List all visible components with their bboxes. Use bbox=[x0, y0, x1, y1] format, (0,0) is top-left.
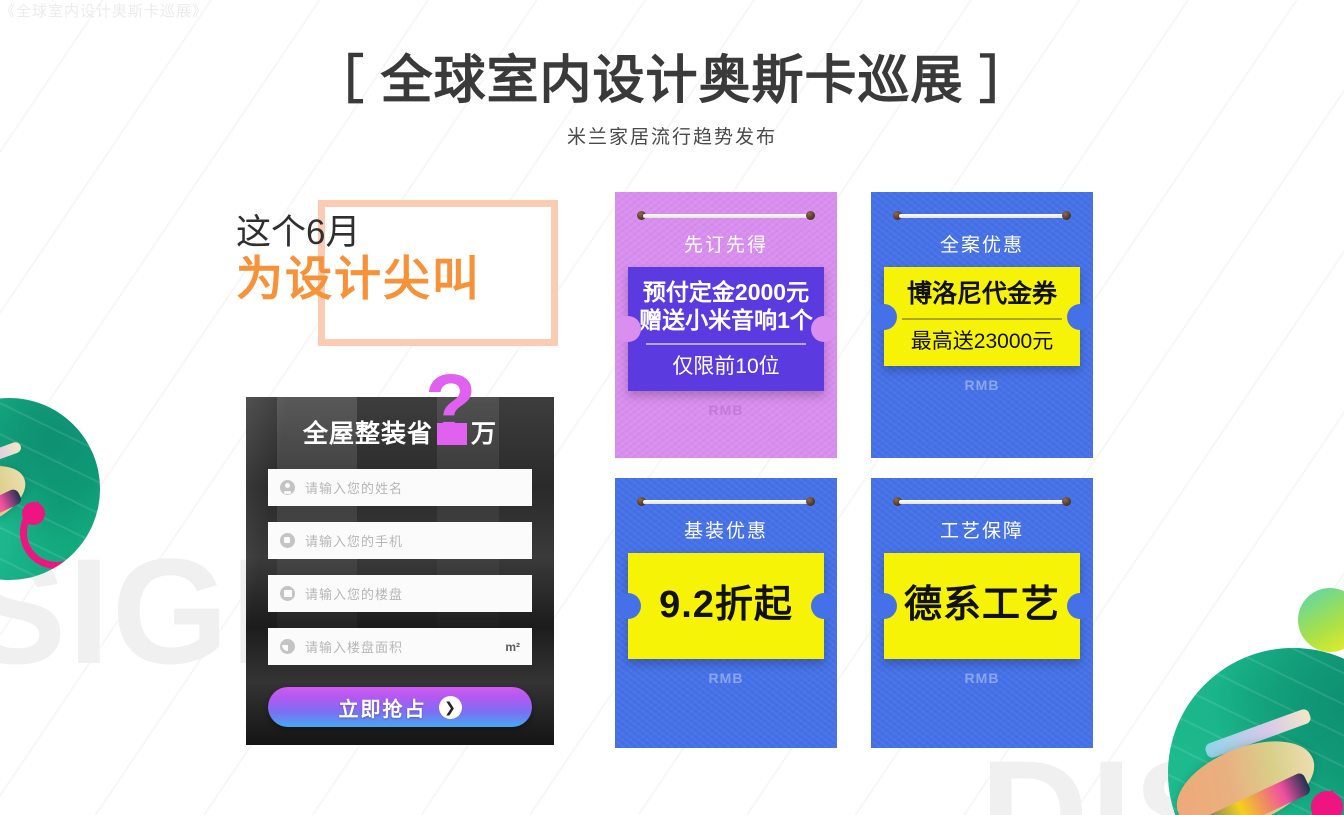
phone-field-placeholder: 请输入您的手机 bbox=[305, 531, 403, 550]
ticket-main-line-1: 预付定金2000元 bbox=[638, 279, 814, 307]
card-footer-label: RMB bbox=[871, 670, 1093, 686]
name-field[interactable]: 请输入您的姓名 bbox=[268, 469, 532, 506]
ticket-divider bbox=[902, 318, 1062, 320]
ticket-notch-right bbox=[811, 593, 837, 619]
coupon-ticket: 9.2折起 bbox=[628, 553, 824, 659]
question-mark-graphic: ? bbox=[425, 362, 476, 446]
ticket-sub: 仅限前10位 bbox=[638, 354, 814, 379]
ticket-notch-left bbox=[615, 316, 641, 342]
card-label: 工艺保障 bbox=[871, 516, 1093, 543]
hanging-rod-icon bbox=[893, 211, 1071, 220]
arrow-right-icon: ❯ bbox=[439, 696, 462, 719]
headline-line-2: 为设计尖叫 bbox=[236, 254, 558, 305]
card-footer-label: RMB bbox=[871, 377, 1093, 393]
promo-card-base-discount[interactable]: 基装优惠 9.2折起 RMB bbox=[615, 478, 837, 748]
community-field-placeholder: 请输入您的楼盘 bbox=[305, 584, 403, 603]
headline-block: 这个6月 为设计尖叫 bbox=[236, 200, 558, 346]
community-field[interactable]: 请输入您的楼盘 bbox=[268, 575, 532, 612]
ticket-main-line-2: 赠送小米音响1个 bbox=[638, 307, 814, 335]
ticket-sub: 最高送23000元 bbox=[894, 329, 1070, 354]
card-label: 全案优惠 bbox=[871, 230, 1093, 257]
ticket-notch-left bbox=[615, 593, 641, 619]
rod-bar bbox=[643, 214, 809, 218]
ticket-main-line-1: 博洛尼代金券 bbox=[894, 279, 1070, 309]
ticket-notch-left bbox=[871, 593, 897, 619]
decorative-photo-circle-right bbox=[1168, 648, 1344, 815]
poster-header: ［ 全球室内设计奥斯卡巡展 ］ 米兰家居流行趋势发布 bbox=[0, 52, 1344, 149]
headline-line-1: 这个6月 bbox=[236, 214, 558, 252]
promo-card-first-order[interactable]: 先订先得 预付定金2000元 赠送小米音响1个 仅限前10位 RMB bbox=[615, 192, 837, 458]
name-field-placeholder: 请输入您的姓名 bbox=[305, 478, 403, 497]
rod-cap-right bbox=[806, 497, 815, 506]
form-heading: 全屋整装省万 bbox=[268, 415, 532, 453]
promo-card-full-package[interactable]: 全案优惠 博洛尼代金券 最高送23000元 RMB bbox=[871, 192, 1093, 458]
rod-bar bbox=[899, 214, 1065, 218]
building-icon bbox=[280, 586, 295, 601]
headline-text: 这个6月 为设计尖叫 bbox=[236, 214, 558, 305]
submit-button[interactable]: 立即抢占 ❯ bbox=[268, 687, 532, 727]
hanging-rod-icon bbox=[637, 497, 815, 506]
ticket-notch-right bbox=[1067, 304, 1093, 330]
card-label: 基装优惠 bbox=[615, 516, 837, 543]
card-footer-label: RMB bbox=[615, 670, 837, 686]
hanging-rod-icon bbox=[893, 497, 1071, 506]
decorative-photo-circle-left bbox=[0, 398, 100, 580]
form-inner: 全屋整装省万 请输入您的姓名 请输入您的手机 请输入您的楼盘 请输入楼盘面积 m… bbox=[246, 397, 554, 727]
area-icon bbox=[280, 639, 295, 654]
poster-canvas: SIGN DISC 《全球室内设计奥斯卡巡展》 ［ 全球室内设计奥斯卡巡展 ］ … bbox=[0, 0, 1344, 815]
watermark-caption: 《全球室内设计奥斯卡巡展》 bbox=[0, 0, 1344, 21]
form-heading-prefix: 全屋整装省 bbox=[303, 420, 433, 448]
rod-cap-right bbox=[806, 211, 815, 220]
rod-cap-right bbox=[1062, 211, 1071, 220]
card-label: 先订先得 bbox=[615, 230, 837, 257]
ticket-notch-right bbox=[811, 316, 837, 342]
area-field-unit: m² bbox=[505, 640, 520, 654]
page-title: ［ 全球室内设计奥斯卡巡展 ］ bbox=[0, 52, 1344, 110]
coupon-ticket: 博洛尼代金券 最高送23000元 bbox=[884, 267, 1080, 366]
phone-icon bbox=[280, 533, 295, 548]
page-subtitle: 米兰家居流行趋势发布 bbox=[0, 122, 1344, 149]
area-field-placeholder: 请输入楼盘面积 bbox=[305, 637, 403, 656]
ticket-notch-right bbox=[1067, 593, 1093, 619]
coupon-ticket: 德系工艺 bbox=[884, 553, 1080, 659]
phone-field[interactable]: 请输入您的手机 bbox=[268, 522, 532, 559]
decorative-gradient-blob bbox=[1298, 588, 1344, 652]
area-field[interactable]: 请输入楼盘面积 m² bbox=[268, 628, 532, 665]
ticket-main-line-1: 德系工艺 bbox=[894, 565, 1070, 647]
ticket-divider bbox=[646, 343, 806, 345]
submit-button-label: 立即抢占 bbox=[339, 693, 427, 722]
rod-bar bbox=[899, 500, 1065, 504]
ticket-main-line-1: 9.2折起 bbox=[638, 565, 814, 647]
coupon-ticket: 预付定金2000元 赠送小米音响1个 仅限前10位 bbox=[628, 267, 824, 391]
promo-card-craft-guarantee[interactable]: 工艺保障 德系工艺 RMB bbox=[871, 478, 1093, 748]
card-footer-label: RMB bbox=[615, 402, 837, 418]
ticket-notch-left bbox=[871, 304, 897, 330]
lead-capture-form: 全屋整装省万 请输入您的姓名 请输入您的手机 请输入您的楼盘 请输入楼盘面积 m… bbox=[246, 397, 554, 745]
rod-bar bbox=[643, 500, 809, 504]
hanging-rod-icon bbox=[637, 211, 815, 220]
rod-cap-right bbox=[1062, 497, 1071, 506]
user-icon bbox=[280, 480, 295, 495]
